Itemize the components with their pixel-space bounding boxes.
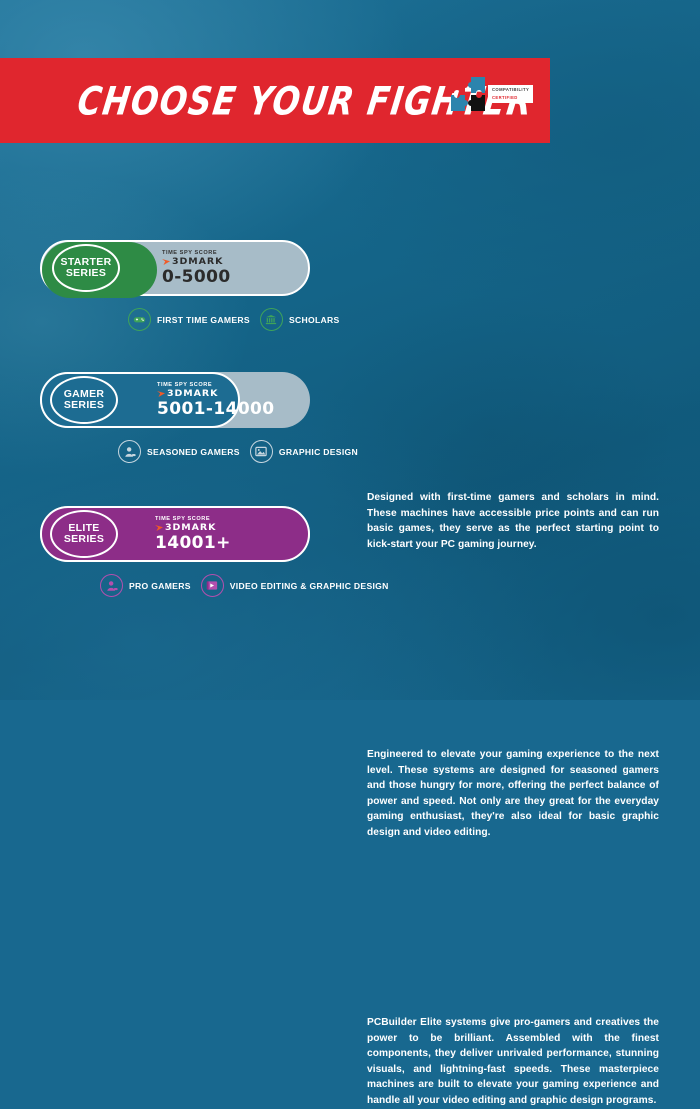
gamer-series-knob[interactable]: GAMER SERIES (50, 376, 118, 424)
3dmark-arrow-icon (155, 524, 164, 532)
gamer-score-value: 5001-14000 (157, 400, 275, 418)
tag-label: SEASONED GAMERS (147, 447, 240, 457)
tag-label: FIRST TIME GAMERS (157, 315, 250, 325)
certified-text-box: COMPATIBILITY CERTIFIED (488, 85, 533, 102)
gamer-3dmark-text: 3DMARK (167, 389, 218, 399)
starter-score-track: STARTER SERIES TIME SPY SCORE 3DMARK 0-5… (40, 240, 310, 296)
elite-score-block: TIME SPY SCORE 3DMARK 14001+ (155, 516, 231, 552)
university-icon (260, 308, 283, 331)
3dmark-arrow-icon (157, 390, 166, 398)
tag-pro-gamers[interactable]: PRO GAMERS (100, 574, 191, 597)
user-gamer-icon (118, 440, 141, 463)
elite-series-knob[interactable]: ELITE SERIES (50, 510, 118, 558)
starter-3dmark-text: 3DMARK (172, 257, 223, 267)
starter-badge-area: STARTER SERIES TIME SPY SCORE 3DMARK 0-5… (40, 240, 340, 296)
gamer-score-track: GAMER SERIES TIME SPY SCORE 3DMARK 5001-… (40, 372, 310, 428)
cert-label-top: COMPATIBILITY (492, 88, 529, 92)
cert-label-bottom: CERTIFIED (492, 96, 529, 100)
tag-graphic-design[interactable]: GRAPHIC DESIGN (250, 440, 358, 463)
elite-tag-list: PRO GAMERS VIDEO EDITING & GRAPHIC DESIG… (100, 574, 389, 597)
tag-seasoned-gamers[interactable]: SEASONED GAMERS (118, 440, 240, 463)
tag-scholars[interactable]: SCHOLARS (260, 308, 340, 331)
gamer-score-block: TIME SPY SCORE 3DMARK 5001-14000 (157, 382, 275, 418)
tag-label: PRO GAMERS (129, 581, 191, 591)
tag-label: SCHOLARS (289, 315, 340, 325)
tag-label: GRAPHIC DESIGN (279, 447, 358, 457)
elite-3dmark-logo: 3DMARK (155, 523, 214, 533)
tag-label: VIDEO EDITING & GRAPHIC DESIGN (230, 581, 389, 591)
starter-description: Designed with first-time gamers and scho… (367, 490, 659, 552)
starter-score-value: 0-5000 (162, 268, 231, 286)
starter-score-label: TIME SPY SCORE (162, 250, 217, 256)
compatibility-certified-puzzle-logo: COMPATIBILITY CERTIFIED (450, 75, 545, 113)
elite-score-track: ELITE SERIES TIME SPY SCORE 3DMARK 14001… (40, 506, 310, 562)
tag-video-editing-graphic-design[interactable]: VIDEO EDITING & GRAPHIC DESIGN (201, 574, 389, 597)
elite-description: PCBuilder Elite systems give pro-gamers … (367, 1015, 659, 1109)
video-editing-icon (201, 574, 224, 597)
starter-tag-list: FIRST TIME GAMERS SCHOLARS (128, 308, 340, 331)
elite-knob-line2: SERIES (64, 534, 104, 546)
tag-first-time-gamers[interactable]: FIRST TIME GAMERS (128, 308, 250, 331)
elite-3dmark-text: 3DMARK (165, 523, 216, 533)
starter-3dmark-logo: 3DMARK (162, 257, 221, 267)
gamer-badge-area: GAMER SERIES TIME SPY SCORE 3DMARK 5001-… (40, 372, 340, 428)
gamer-knob-line2: SERIES (64, 400, 104, 412)
elite-score-label: TIME SPY SCORE (155, 516, 210, 522)
starter-series-knob[interactable]: STARTER SERIES (52, 244, 120, 292)
user-pro-gamer-icon (100, 574, 123, 597)
puzzle-icon (450, 76, 486, 112)
3dmark-arrow-icon (162, 258, 171, 266)
starter-knob-line2: SERIES (66, 268, 106, 280)
gamepad-icon (128, 308, 151, 331)
elite-badge-area: ELITE SERIES TIME SPY SCORE 3DMARK 14001… (40, 506, 340, 562)
gamer-3dmark-logo: 3DMARK (157, 389, 216, 399)
gamer-tag-list: SEASONED GAMERS GRAPHIC DESIGN (118, 440, 358, 463)
gamer-score-label: TIME SPY SCORE (157, 382, 212, 388)
starter-score-block: TIME SPY SCORE 3DMARK 0-5000 (162, 250, 231, 286)
gamer-description: Engineered to elevate your gaming experi… (367, 747, 659, 841)
image-design-icon (250, 440, 273, 463)
elite-score-value: 14001+ (155, 534, 231, 552)
